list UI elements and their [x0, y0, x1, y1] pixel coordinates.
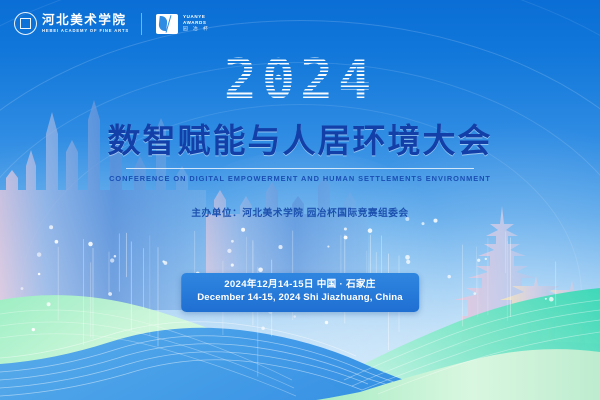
yuanye-mark-icon [156, 14, 178, 34]
logo-yuanye-line1: YUANYE [183, 15, 211, 19]
logo-hebei-academy[interactable]: 河北美术学院 HEBEI ACADEMY OF FINE ARTS [14, 12, 127, 35]
host-line: 主办单位：河北美术学院 园冶杯国际竞赛组委会 [0, 205, 600, 219]
logo-hebei-en: HEBEI ACADEMY OF FINE ARTS [42, 29, 145, 33]
date-location-pill: 2024年12月14-15日 中国 · 石家庄 December 14-15, … [181, 273, 419, 312]
logo-yuanye-award[interactable]: YUANYE AWARDS 园 冶 杯 [156, 14, 205, 34]
title-rule [126, 168, 474, 169]
hero-title-cn: 数智赋能与人居环境大会 [0, 123, 600, 159]
seal-emblem-icon [14, 12, 37, 35]
conference-banner: 河北美术学院 HEBEI ACADEMY OF FINE ARTS YUANYE… [0, 0, 600, 400]
logo-hebei-cn: 河北美术学院 [42, 14, 127, 27]
date-line-cn: 2024年12月14-15日 中国 · 石家庄 [197, 279, 403, 292]
logo-yuanye-cn: 园 冶 杯 [183, 27, 210, 32]
hero-title-en: CONFERENCE ON DIGITAL EMPOWERMENT AND HU… [0, 174, 600, 183]
hero-year: 2024 [224, 52, 376, 107]
header-logos: 河北美术学院 HEBEI ACADEMY OF FINE ARTS YUANYE… [14, 12, 205, 35]
date-line-en: December 14-15, 2024 Shi Jiazhuang, Chin… [197, 292, 403, 305]
hero-block: 2024 数智赋能与人居环境大会 CONFERENCE ON DIGITAL E… [0, 52, 600, 219]
